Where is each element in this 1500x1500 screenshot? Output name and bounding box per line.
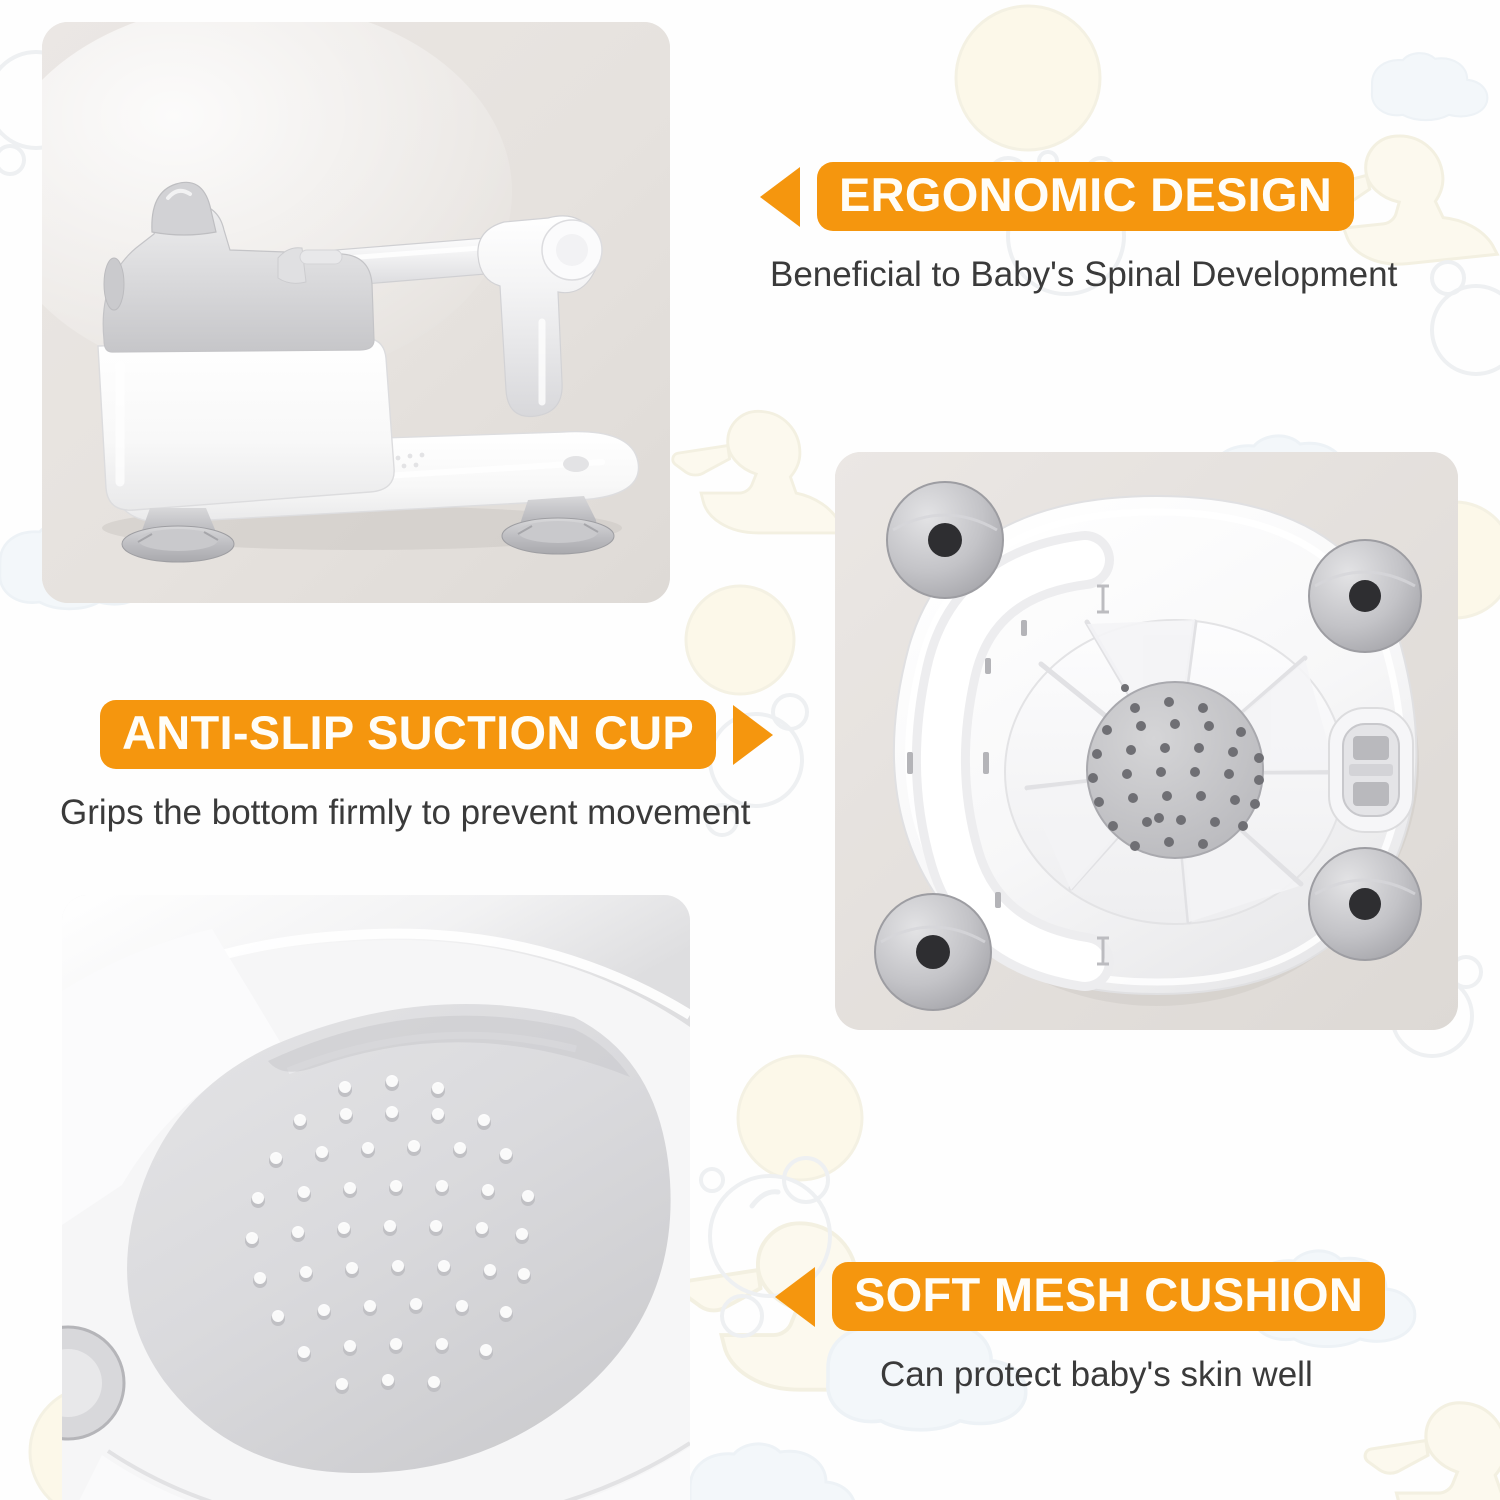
feature-subtitle: Grips the bottom firmly to prevent movem… (60, 793, 773, 833)
suction-cup-icon (1309, 848, 1421, 960)
baby-bath-seat-side-view-image (42, 22, 670, 603)
photo-card-side-view (42, 22, 670, 603)
feature-badge-row: ERGONOMIC DESIGN (760, 162, 1397, 231)
feature-badge-row: SOFT MESH CUSHION (775, 1262, 1385, 1331)
feature-title-badge: SOFT MESH CUSHION (832, 1262, 1385, 1331)
left-triangle-icon (775, 1267, 815, 1327)
soft-mesh-cushion-closeup-image (62, 895, 690, 1500)
left-triangle-icon (760, 167, 800, 227)
right-triangle-icon (733, 705, 773, 765)
feature-soft-mesh-cushion: SOFT MESH CUSHION Can protect baby's ski… (775, 1262, 1385, 1395)
feature-anti-slip-suction-cup: ANTI-SLIP SUCTION CUP Grips the bottom f… (100, 700, 773, 833)
feature-title-badge: ERGONOMIC DESIGN (817, 162, 1354, 231)
feature-badge-row: ANTI-SLIP SUCTION CUP (100, 700, 773, 769)
feature-title-badge: ANTI-SLIP SUCTION CUP (100, 700, 716, 769)
suction-cup-icon (875, 894, 991, 1010)
infographic-canvas: ERGONOMIC DESIGN Beneficial to Baby's Sp… (0, 0, 1500, 1500)
baby-bath-seat-bottom-view-image (835, 452, 1458, 1030)
feature-ergonomic-design: ERGONOMIC DESIGN Beneficial to Baby's Sp… (760, 162, 1397, 295)
suction-cup-icon (1309, 540, 1421, 652)
photo-card-mesh-closeup (62, 895, 690, 1500)
feature-subtitle: Can protect baby's skin well (880, 1355, 1385, 1395)
suction-cup-icon (887, 482, 1003, 598)
feature-subtitle: Beneficial to Baby's Spinal Development (770, 255, 1397, 295)
photo-card-bottom-view (835, 452, 1458, 1030)
